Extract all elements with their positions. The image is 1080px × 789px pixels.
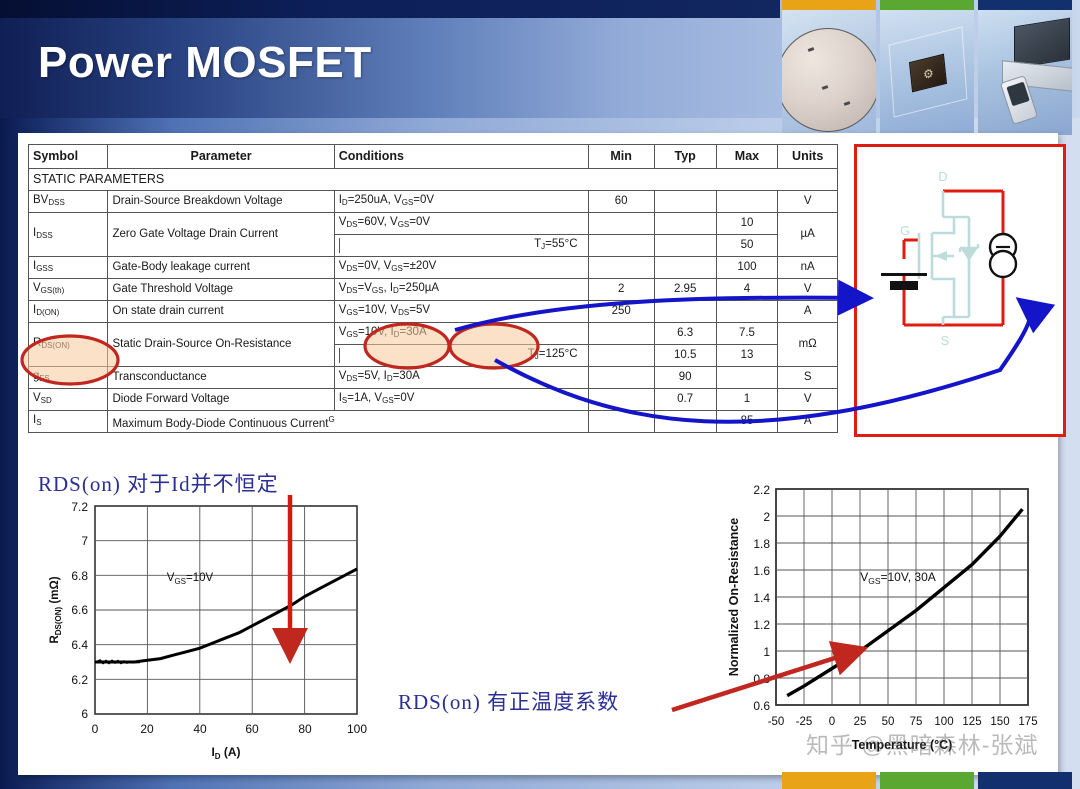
note-rdson-not-constant: RDS(on) 对于Id并不恒定 [38,468,279,498]
cell-parameter: Static Drain-Source On-Resistance [108,323,334,367]
col-conditions: Conditions [334,145,588,169]
cell-min [588,257,654,279]
cell-conditions: ID=250uA, VGS=0V [334,191,588,213]
cell-min: 250 [588,301,654,323]
section-title: STATIC PARAMETERS [29,169,838,191]
cell-symbol: ID(ON) [29,301,108,323]
cell-units: V [778,191,838,213]
note-positive-temp-coefficient: RDS(on) 有正温度系数 [398,686,619,716]
gate-label: G [900,223,910,238]
mosfet-arrow-head [935,251,947,261]
bottom-color-tabs [782,772,1080,789]
table-row: IDSS Zero Gate Voltage Drain Current VDS… [29,213,838,235]
table-row: RDS(ON) Static Drain-Source On-Resistanc… [29,323,838,345]
table-row: ID(ON) On state drain current VGS=10V, V… [29,301,838,323]
x-tick-labels: 0 20 40 60 80 100 [92,722,368,736]
content-card: Symbol Parameter Conditions Min Typ Max … [18,133,1058,775]
svg-text:6.8: 6.8 [71,569,88,583]
cell-symbol-rdson: RDS(ON) [29,323,108,367]
cell-parameter: On state drain current [108,301,334,323]
cell-units: nA [778,257,838,279]
cell-max: 50 [716,235,778,257]
photo-wafer [782,0,876,135]
table-row: IS Maximum Body-Diode Continuous Current… [29,411,838,433]
chip-logo-icon: ⚙ [923,65,938,82]
svg-text:6.6: 6.6 [71,603,88,617]
y-axis-title: RDS(ON) (mΩ) [49,576,63,643]
page-title: Power MOSFET [38,38,372,88]
mosfet-schematic-svg: D G S [857,147,1063,434]
cell-max: 100 [716,257,778,279]
cell-symbol: IDSS [29,213,108,257]
mosfet-schematic-box: D G S [854,144,1066,437]
col-typ: Typ [654,145,716,169]
cell-parameter: Maximum Body-Diode Continuous CurrentG [108,411,588,433]
cell-parameter: Diode Forward Voltage [108,389,334,411]
cell-units: V [778,279,838,301]
y-axis-title: Normalized On-Resistance [727,518,741,676]
cell-typ: 10.5 [654,345,716,367]
chart-left-svg: 7.2 7 6.8 6.6 6.4 6.2 6 0 20 40 60 80 10… [40,488,385,768]
cell-min [588,389,654,411]
table-row: gFS Transconductance VDS=5V, ID=30A 90 S [29,367,838,389]
cell-units: A [778,411,838,433]
col-max: Max [716,145,778,169]
svg-text:6: 6 [81,707,88,721]
bottom-tab-orange [782,772,876,789]
chart-normalized-rdson-vs-temp: 2.2 2 1.8 1.6 1.4 1.2 1 0.8 0.6 -50 -25 … [718,473,1048,768]
cell-parameter: Gate-Body leakage current [108,257,334,279]
svg-text:1.6: 1.6 [753,564,770,578]
drain-label: D [938,169,947,184]
cell-units: µA [778,213,838,257]
svg-text:7: 7 [81,534,88,548]
svg-text:2: 2 [763,510,770,524]
svg-text:60: 60 [245,722,259,736]
svg-text:40: 40 [193,722,207,736]
cell-min: 60 [588,191,654,213]
cell-typ: 0.7 [654,389,716,411]
cell-conditions: VDS=5V, ID=30A [334,367,588,389]
cell-units: S [778,367,838,389]
watermark: 知乎 @黑暗森林-张斌 [806,726,1038,760]
svg-text:0: 0 [92,722,99,736]
cell-typ [654,301,716,323]
y-tick-labels: 2.2 2 1.8 1.6 1.4 1.2 1 0.8 0.6 [753,483,770,713]
cell-max: 4 [716,279,778,301]
cell-typ: 6.3 [654,323,716,345]
svg-text:2.2: 2.2 [753,483,770,497]
phone-screen-icon [1006,82,1029,107]
cell-symbol: VGS(th) [29,279,108,301]
svg-text:100: 100 [347,722,367,736]
source-label: S [941,333,950,348]
cell-conditions-sub: TJ=55°C [334,235,588,257]
photo-bar-navy [978,0,1072,10]
gate-battery-symbol [881,273,927,290]
laptop-phone-image [978,10,1072,135]
silicon-wafer-icon [782,28,876,132]
chart-right-svg: 2.2 2 1.8 1.6 1.4 1.2 1 0.8 0.6 -50 -25 … [718,473,1048,768]
cell-conditions: VGS=10V, VDS=5V [334,301,588,323]
cell-min: 2 [588,279,654,301]
svg-text:1.8: 1.8 [753,537,770,551]
svg-text:80: 80 [298,722,312,736]
svg-text:1.2: 1.2 [753,618,770,632]
cell-typ: 2.95 [654,279,716,301]
cell-max: 1 [716,389,778,411]
cell-parameter: Transconductance [108,367,334,389]
cell-max: 85 [716,411,778,433]
svg-text:1: 1 [763,645,770,659]
cell-min [588,235,654,257]
table-row: VSD Diode Forward Voltage IS=1A, VGS=0V … [29,389,838,411]
table-header-row: Symbol Parameter Conditions Min Typ Max … [29,145,838,169]
chart-rdson-vs-id: 7.2 7 6.8 6.6 6.4 6.2 6 0 20 40 60 80 10… [40,488,385,768]
cell-max [716,367,778,389]
svg-text:6.4: 6.4 [71,638,88,652]
cell-symbol: gFS [29,367,108,389]
svg-text:0.6: 0.6 [753,699,770,713]
cell-typ [654,213,716,235]
cell-symbol: IS [29,411,108,433]
svg-text:7.2: 7.2 [71,500,88,514]
svg-text:-50: -50 [768,716,785,728]
cell-conditions-rdson: VGS=10V, ID=30A [334,323,588,345]
col-min: Min [588,145,654,169]
current-source-symbol [990,234,1016,277]
cell-typ [654,235,716,257]
cell-min [588,367,654,389]
cell-conditions: IS=1A, VGS=0V [334,389,588,411]
cell-parameter: Drain-Source Breakdown Voltage [108,191,334,213]
cell-min [588,345,654,367]
cell-max: 7.5 [716,323,778,345]
laptop-screen-icon [1014,18,1070,69]
bottom-tab-green [880,772,974,789]
decorative-photo-strip: ⚙ [782,0,1080,135]
chip-image: ⚙ [880,10,974,135]
cell-max: 13 [716,345,778,367]
cell-conditions: VDS=VGS, ID=250µA [334,279,588,301]
bottom-tab-navy [978,772,1072,789]
cell-min [588,411,654,433]
cell-max [716,191,778,213]
photo-bar-orange [782,0,876,10]
photo-chip-package: ⚙ [880,0,974,135]
svg-text:6.2: 6.2 [71,673,88,687]
chart-annotation: VGS=10V [167,572,214,586]
cell-typ: 90 [654,367,716,389]
cell-conditions: VDS=60V, VGS=0V [334,213,588,235]
cell-symbol: IGSS [29,257,108,279]
table-row: VGS(th) Gate Threshold Voltage VDS=VGS, … [29,279,838,301]
y-tick-labels: 7.2 7 6.8 6.6 6.4 6.2 6 [71,500,88,721]
table-row: IGSS Gate-Body leakage current VDS=0V, V… [29,257,838,279]
cell-parameter: Zero Gate Voltage Drain Current [108,213,334,257]
cell-max [716,301,778,323]
wafer-image [782,10,876,135]
cell-parameter: Gate Threshold Voltage [108,279,334,301]
col-units: Units [778,145,838,169]
photo-laptop-phone [978,0,1072,135]
cell-typ [654,411,716,433]
slide-top-bar [0,0,780,18]
x-axis-title: ID (A) [211,745,240,761]
cell-units: mΩ [778,323,838,367]
table-row: BVDSS Drain-Source Breakdown Voltage ID=… [29,191,838,213]
cell-min [588,323,654,345]
cell-typ [654,191,716,213]
cell-max: 10 [716,213,778,235]
body-diode-symbol [960,244,978,267]
col-parameter: Parameter [108,145,334,169]
cell-symbol: BVDSS [29,191,108,213]
table-section-row: STATIC PARAMETERS [29,169,838,191]
cell-units: A [778,301,838,323]
svg-text:1.4: 1.4 [753,591,770,605]
cell-symbol: VSD [29,389,108,411]
svg-text:20: 20 [140,722,154,736]
cell-conditions: VDS=0V, VGS=±20V [334,257,588,279]
cell-conditions-sub: TJ=125°C [334,345,588,367]
cell-typ [654,257,716,279]
cell-units: V [778,389,838,411]
svg-text:0.8: 0.8 [753,672,770,686]
cell-min [588,213,654,235]
datasheet-table: Symbol Parameter Conditions Min Typ Max … [28,144,838,433]
col-symbol: Symbol [29,145,108,169]
photo-bar-green [880,0,974,10]
